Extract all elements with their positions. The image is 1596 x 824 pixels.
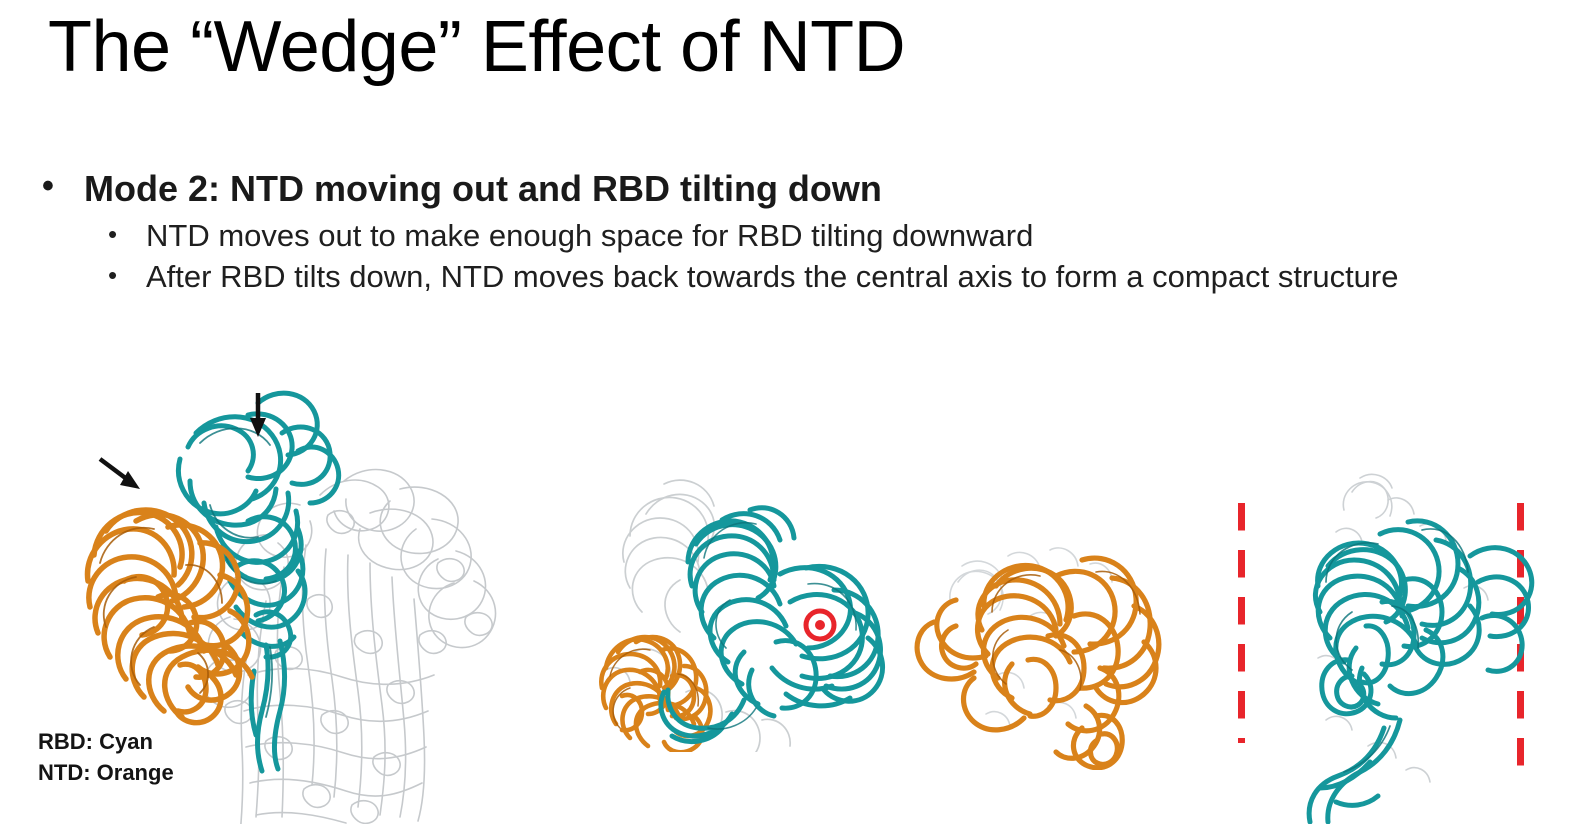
ntd-isolated-graphic — [900, 520, 1200, 770]
bullet-marker-icon: • — [42, 166, 54, 206]
rbd-isolated-graphic — [1220, 470, 1596, 824]
legend-item-rbd: RBD: Cyan — [38, 726, 174, 757]
slide-canvas: The “Wedge” Effect of NTD • Mode 2: NTD … — [0, 0, 1596, 824]
bullet-marker-icon: • — [108, 257, 117, 295]
color-legend: RBD: Cyan NTD: Orange — [38, 726, 174, 788]
figure-rbd-ntd-pair-top-view — [576, 462, 916, 752]
bullet-level1-text: Mode 2: NTD moving out and RBD tilting d… — [84, 168, 882, 209]
bullet-marker-icon: • — [108, 216, 117, 254]
pivot-target-marker-icon — [806, 611, 834, 639]
bullet-level1-mode2: • Mode 2: NTD moving out and RBD tilting… — [36, 168, 1516, 210]
legend-item-ntd: NTD: Orange — [38, 757, 174, 788]
ntd-diagonal-arrow-icon — [100, 459, 140, 489]
bullet-level2-item-0: • NTD moves out to make enough space for… — [36, 216, 1516, 256]
rbd-ntd-pair-graphic — [576, 462, 916, 752]
bullet-level2-text: NTD moves out to make enough space for R… — [146, 218, 1033, 253]
ntd-orange-ribbon — [917, 558, 1159, 768]
bullet-level2-item-1: • After RBD tilts down, NTD moves back t… — [36, 257, 1516, 297]
bullet-level2-text: After RBD tilts down, NTD moves back tow… — [146, 259, 1399, 294]
figure-ntd-isolated — [900, 520, 1200, 770]
page-title: The “Wedge” Effect of NTD — [48, 10, 905, 86]
rbd-cyan-ribbon — [1309, 521, 1532, 822]
figure-rbd-isolated-with-axis — [1220, 470, 1596, 824]
bullet-sublist: • NTD moves out to make enough space for… — [36, 216, 1516, 297]
body-bullet-list: • Mode 2: NTD moving out and RBD tilting… — [36, 168, 1516, 297]
rbd-cyan-ribbon — [178, 393, 338, 771]
